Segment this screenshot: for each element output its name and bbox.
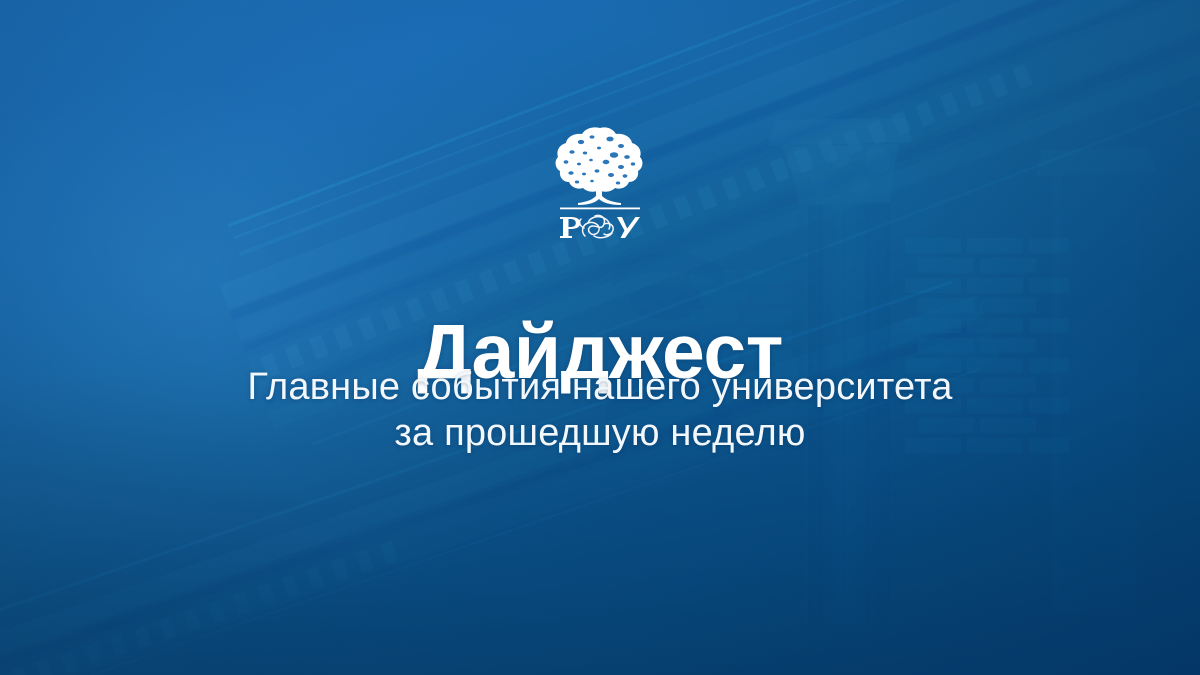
oak-tree-icon <box>556 127 643 209</box>
digest-title-slide: Дайджест Главные события нашего универси… <box>0 0 1200 675</box>
page-subtitle: Главные события нашего университета за п… <box>0 364 1200 456</box>
monogram-flourish <box>580 215 614 237</box>
subtitle-line-1: Главные события нашего университета <box>0 364 1200 410</box>
university-logo <box>554 124 646 242</box>
subtitle-line-2: за прошедшую неделю <box>0 410 1200 456</box>
